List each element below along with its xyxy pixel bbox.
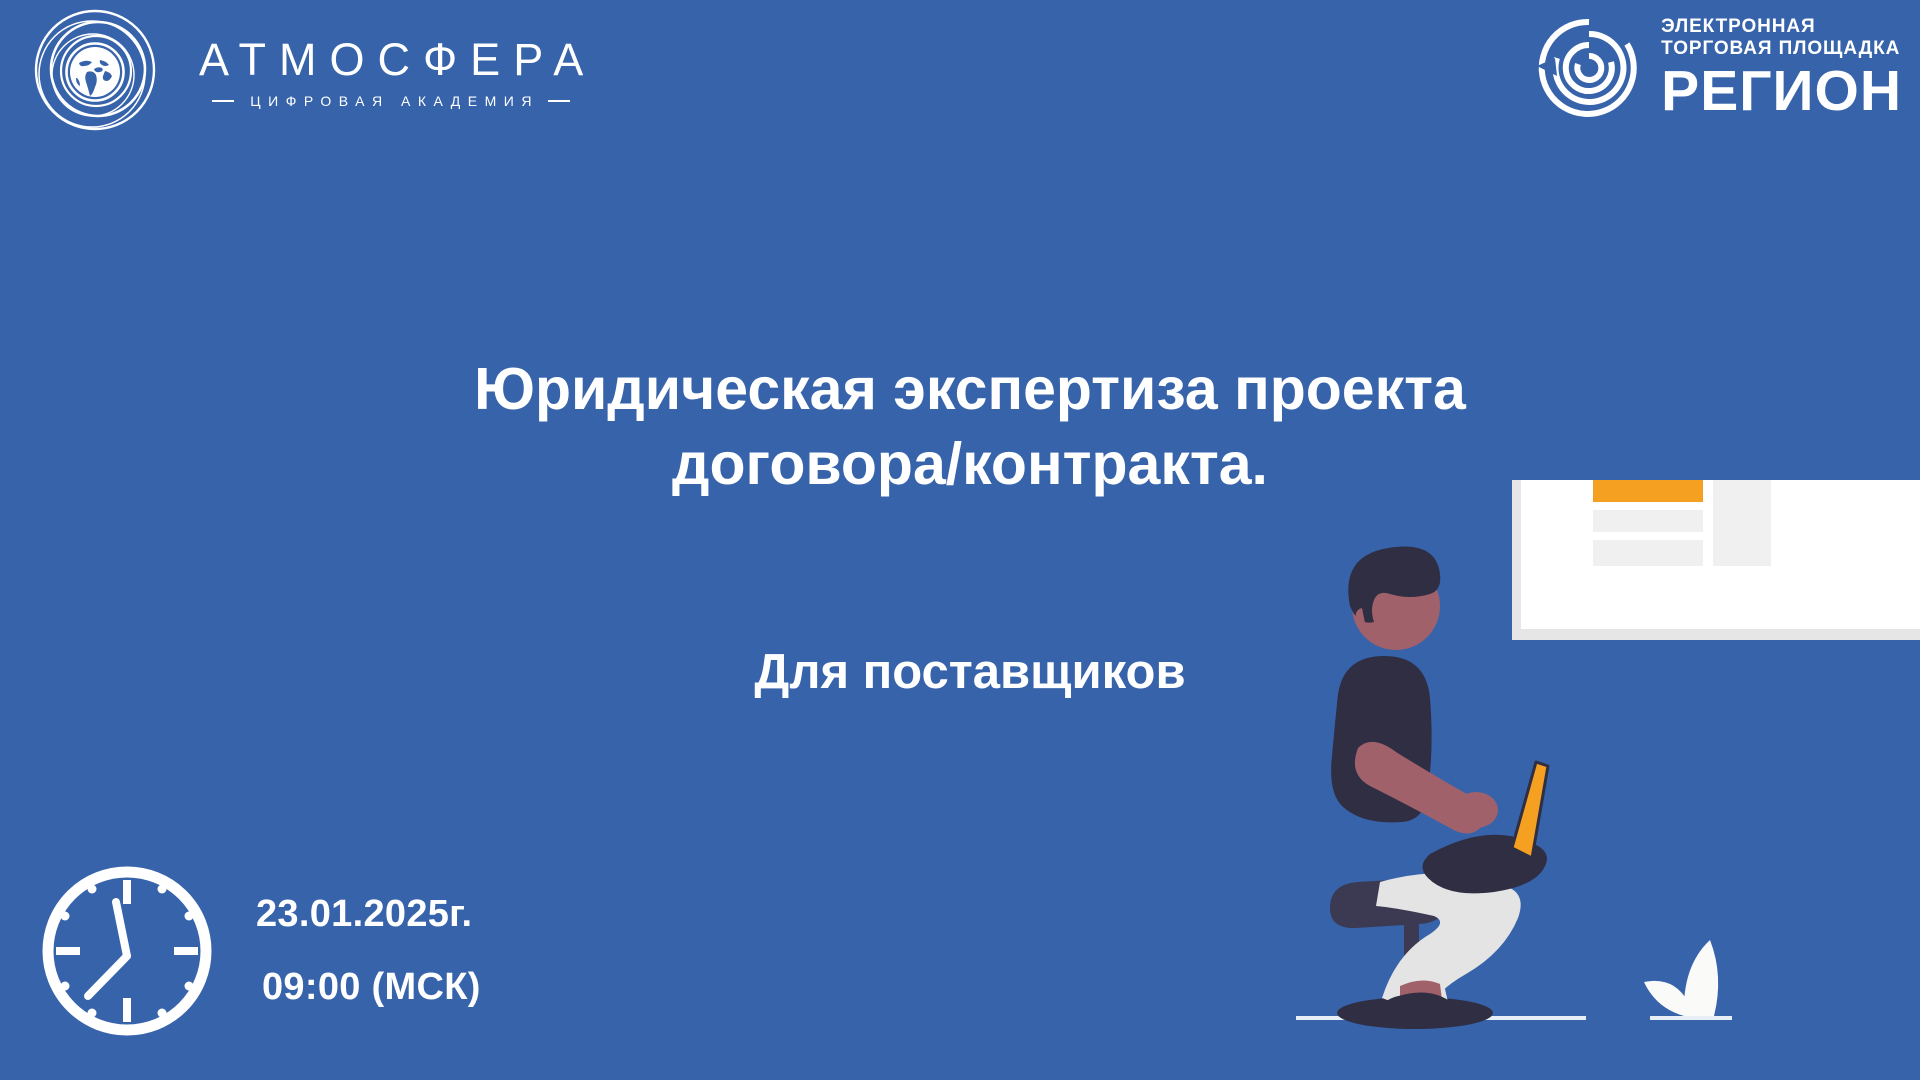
brand-region: ЭЛЕКТРОННАЯ ТОРГОВАЯ ПЛОЩАДКА РЕГИОН	[1535, 14, 1902, 122]
event-schedule-text: 23.01.2025г. 09:00 (МСК)	[256, 893, 481, 1009]
event-date: 23.01.2025г.	[256, 893, 481, 936]
person-legs	[1376, 873, 1521, 1014]
globe-concentric-circles-icon	[30, 8, 160, 138]
spiral-concentric-arcs-icon	[1535, 14, 1643, 122]
tagline-rule-left	[212, 100, 234, 102]
browser-placeholder-row-1	[1593, 510, 1703, 532]
brand-region-name: РЕГИОН	[1661, 63, 1902, 120]
brand-region-line2: ТОРГОВАЯ ПЛОЩАДКА	[1661, 38, 1902, 60]
plant-leaf-icon	[1644, 940, 1718, 1016]
tagline-rule-right	[548, 100, 570, 102]
browser-window-mockup-icon	[1512, 480, 1920, 640]
brand-atmosfera-name: АТМОСФЕРА	[186, 37, 596, 82]
brand-atmosfera-tagline: ЦИФРОВАЯ АКАДЕМИЯ	[243, 93, 539, 109]
brand-atmosfera-tagline-row: ЦИФРОВАЯ АКАДЕМИЯ	[186, 93, 596, 109]
brand-atmosfera-wordmark: АТМОСФЕРА ЦИФРОВАЯ АКАДЕМИЯ	[186, 37, 596, 109]
brand-atmosfera: АТМОСФЕРА ЦИФРОВАЯ АКАДЕМИЯ	[30, 8, 596, 138]
event-schedule: 23.01.2025г. 09:00 (МСК)	[38, 862, 481, 1040]
browser-placeholder-row-2	[1593, 540, 1703, 566]
illustration-person-at-laptop	[1280, 480, 1920, 1080]
ground-line-right	[1650, 1016, 1732, 1020]
event-time: 09:00 (МСК)	[256, 966, 481, 1009]
browser-sidebar-placeholder	[1713, 480, 1771, 566]
clock-icon	[38, 862, 216, 1040]
brand-region-line1: ЭЛЕКТРОННАЯ	[1661, 16, 1902, 38]
brand-region-text: ЭЛЕКТРОННАЯ ТОРГОВАЯ ПЛОЩАДКА РЕГИОН	[1661, 16, 1902, 121]
browser-accent-block	[1593, 480, 1703, 502]
person-hand	[1454, 792, 1498, 828]
slide-root: АТМОСФЕРА ЦИФРОВАЯ АКАДЕМИЯ ЭЛЕКТРОННАЯ …	[0, 0, 1920, 1080]
